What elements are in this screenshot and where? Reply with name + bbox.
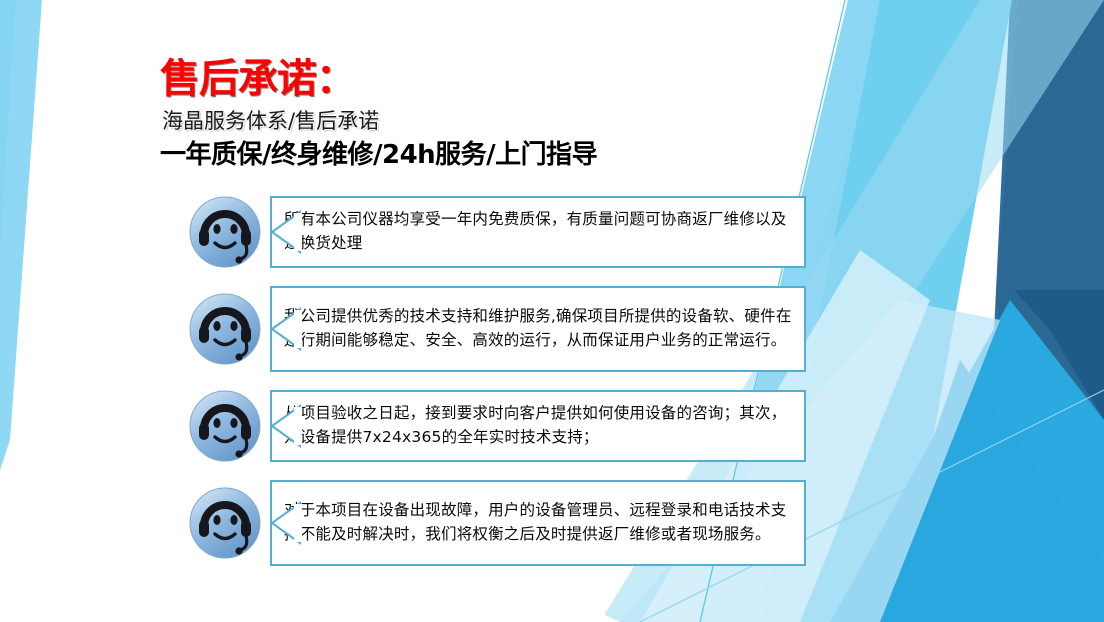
vivid-blue-shape: [830, 300, 1104, 622]
page-title: 售后承诺：: [160, 58, 800, 100]
promise-text: 所有本公司仪器均享受一年内免费质保，有质量问题可协商返厂维修以及退换货处理: [284, 208, 792, 255]
navy-notch-shape: [1014, 290, 1104, 420]
promise-text: 我公司提供优秀的技术支持和维护服务,确保项目所提供的设备软、硬件在运行期间能够稳…: [284, 305, 792, 352]
headset-smiley-icon: [186, 290, 264, 368]
list-item: 我公司提供优秀的技术支持和维护服务,确保项目所提供的设备软、硬件在运行期间能够稳…: [186, 286, 806, 372]
slide-canvas: 售后承诺： 海晶服务体系/售后承诺 一年质保/终身维修/24h服务/上门指导: [0, 0, 1104, 622]
headset-smiley-icon: [186, 484, 264, 562]
connector-notch: [270, 503, 300, 543]
promise-box: 所有本公司仪器均享受一年内免费质保，有质量问题可协商返厂维修以及退换货处理: [270, 196, 806, 268]
list-item: 从项目验收之日起，接到要求时向客户提供如何使用设备的咨询；其次，对设备提供7x2…: [186, 390, 806, 462]
left-wedge-shadow: [0, 0, 16, 250]
list-item: 对于本项目在设备出现故障，用户的设备管理员、远程登录和电话技术支持不能及时解决时…: [186, 480, 806, 566]
connector-notch: [270, 406, 300, 446]
breadcrumb: 海晶服务体系/售后承诺: [162, 109, 800, 134]
left-wedge-shape: [0, 0, 42, 470]
connector-notch: [270, 212, 300, 252]
promise-text: 从项目验收之日起，接到要求时向客户提供如何使用设备的咨询；其次，对设备提供7x2…: [284, 402, 792, 449]
connector-notch: [270, 309, 300, 349]
page-tagline: 一年质保/终身维修/24h服务/上门指导: [160, 140, 800, 171]
list-item: 所有本公司仪器均享受一年内免费质保，有质量问题可协商返厂维修以及退换货处理: [186, 196, 806, 268]
promise-box: 对于本项目在设备出现故障，用户的设备管理员、远程登录和电话技术支持不能及时解决时…: [270, 480, 806, 566]
headset-smiley-icon: [186, 193, 264, 271]
vivid-blue-shape-2: [870, 360, 1104, 622]
promise-list: 所有本公司仪器均享受一年内免费质保，有质量问题可协商返厂维修以及退换货处理: [186, 196, 806, 566]
promise-text: 对于本项目在设备出现故障，用户的设备管理员、远程登录和电话技术支持不能及时解决时…: [284, 499, 792, 546]
right-deep-blue-shape: [980, 0, 1104, 622]
promise-box: 我公司提供优秀的技术支持和维护服务,确保项目所提供的设备软、硬件在运行期间能够稳…: [270, 286, 806, 372]
right-deep-blue-shape-2: [996, 0, 1104, 622]
promise-box: 从项目验收之日起，接到要求时向客户提供如何使用设备的咨询；其次，对设备提供7x2…: [270, 390, 806, 462]
header-block: 售后承诺： 海晶服务体系/售后承诺 一年质保/终身维修/24h服务/上门指导: [160, 58, 800, 171]
headset-smiley-icon: [186, 387, 264, 465]
